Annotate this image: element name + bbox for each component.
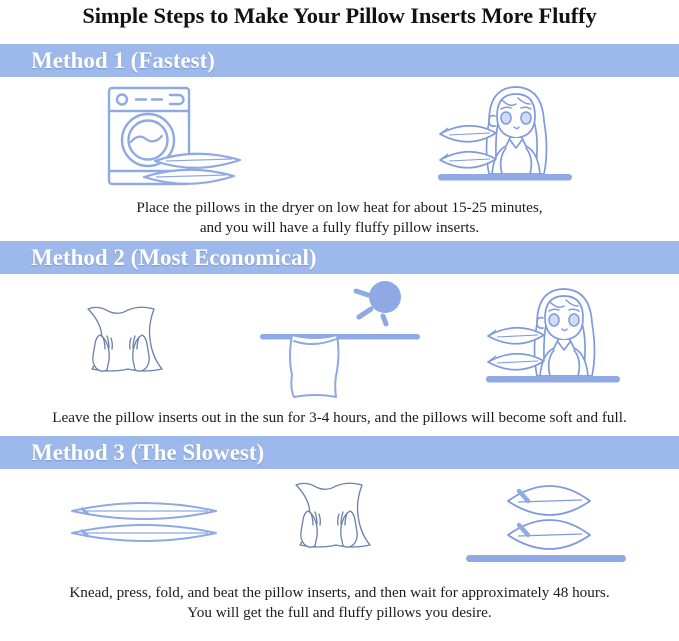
flat-stacked-pillows-illustration xyxy=(68,495,220,551)
title-spacer xyxy=(0,33,679,44)
method-1-caption-line-1: Place the pillows in the dryer on low he… xyxy=(14,198,665,218)
hands-squeezing-pillow-illustration xyxy=(286,475,386,555)
clothesline-bar xyxy=(260,334,420,340)
method-2-caption-line-1: Leave the pillow inserts out in the sun … xyxy=(14,408,665,428)
method-2-banner: Method 2 (Most Economical) xyxy=(0,241,679,274)
method-3-illustration-row xyxy=(0,469,679,577)
shelf-bar xyxy=(466,555,626,562)
method-1-caption-line-2: and you will have a fully fluffy pillow … xyxy=(14,218,665,238)
fluffy-stacked-pillows-on-bar-illustration xyxy=(462,475,634,567)
girl-holding-fluffy-pillows-illustration xyxy=(480,280,628,392)
method-3-caption: Knead, press, fold, and beat the pillow … xyxy=(0,577,679,621)
pillow-drying-in-sun-illustration xyxy=(258,279,428,401)
method-1-illustration-row xyxy=(0,77,679,195)
method-2-caption: Leave the pillow inserts out in the sun … xyxy=(0,404,679,436)
method-1-caption: Place the pillows in the dryer on low he… xyxy=(0,195,679,241)
dryer-with-pillows-illustration xyxy=(100,83,260,191)
method-3-caption-line-2: You will get the full and fluffy pillows… xyxy=(14,603,665,623)
table-bar xyxy=(438,174,572,181)
method-2-illustration-row xyxy=(0,274,679,404)
method-3-caption-line-1: Knead, press, fold, and beat the pillow … xyxy=(14,583,665,603)
method-1-banner: Method 1 (Fastest) xyxy=(0,44,679,77)
method-3-banner-label: Method 3 (The Slowest) xyxy=(0,440,264,465)
page-title: Simple Steps to Make Your Pillow Inserts… xyxy=(0,0,679,33)
infographic-page: Simple Steps to Make Your Pillow Inserts… xyxy=(0,0,679,641)
girl-holding-fluffy-pillows-illustration xyxy=(432,78,580,190)
method-2-banner-label: Method 2 (Most Economical) xyxy=(0,245,317,270)
method-1-banner-label: Method 1 (Fastest) xyxy=(0,48,215,73)
sun-icon xyxy=(356,281,401,324)
hands-squeezing-pillow-illustration xyxy=(78,299,178,379)
method-3-banner: Method 3 (The Slowest) xyxy=(0,436,679,469)
table-bar xyxy=(486,376,620,383)
